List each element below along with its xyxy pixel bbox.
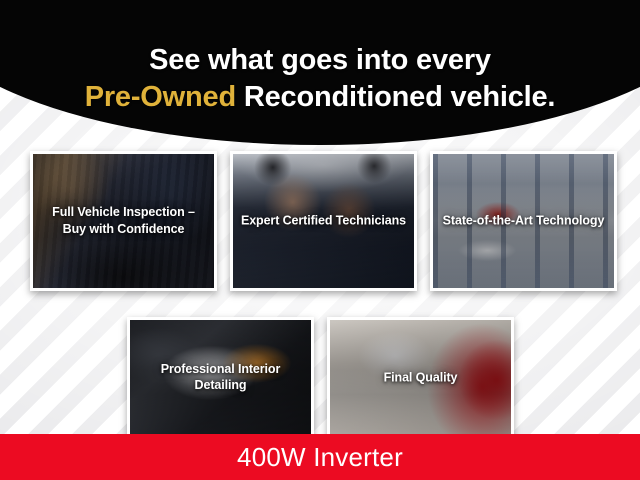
headline-line-2-rest: Reconditioned vehicle. — [236, 81, 555, 113]
headline-highlight: Pre-Owned — [85, 81, 236, 113]
card-state-of-the-art-technology[interactable]: State-of-the-Art Technology — [430, 151, 617, 291]
card-caption: Full Vehicle Inspection – Buy with Confi… — [33, 204, 214, 238]
caption-line-1: Full Vehicle Inspection – — [52, 205, 195, 219]
card-full-vehicle-inspection[interactable]: Full Vehicle Inspection – Buy with Confi… — [30, 151, 217, 291]
footer-label: 400W Inverter — [237, 442, 403, 473]
card-professional-interior-detailing[interactable]: Professional Interior Detailing — [127, 317, 314, 443]
caption-line-2: Buy with Confidence — [63, 222, 185, 236]
caption-line-2: Detailing — [195, 379, 247, 393]
card-caption: Expert Certified Technicians — [233, 213, 414, 230]
card-caption: Final Quality — [330, 369, 511, 386]
promo-graphic: See what goes into every Pre-Owned Recon… — [0, 0, 640, 480]
caption-line-1: Expert Certified Technicians — [241, 214, 406, 228]
headline-line-1: See what goes into every — [149, 44, 491, 76]
footer-banner: 400W Inverter — [0, 434, 640, 480]
card-caption: State-of-the-Art Technology — [433, 213, 614, 230]
header-content: See what goes into every Pre-Owned Recon… — [0, 0, 640, 145]
caption-line-1: Professional Interior — [161, 362, 280, 376]
caption-line-1: State-of-the-Art Technology — [443, 214, 605, 228]
caption-line-1: Final Quality — [384, 370, 458, 384]
card-final-quality[interactable]: Final Quality — [327, 317, 514, 443]
card-caption: Professional Interior Detailing — [130, 361, 311, 395]
page-title: See what goes into every Pre-Owned Recon… — [85, 30, 556, 115]
card-expert-certified-technicians[interactable]: Expert Certified Technicians — [230, 151, 417, 291]
